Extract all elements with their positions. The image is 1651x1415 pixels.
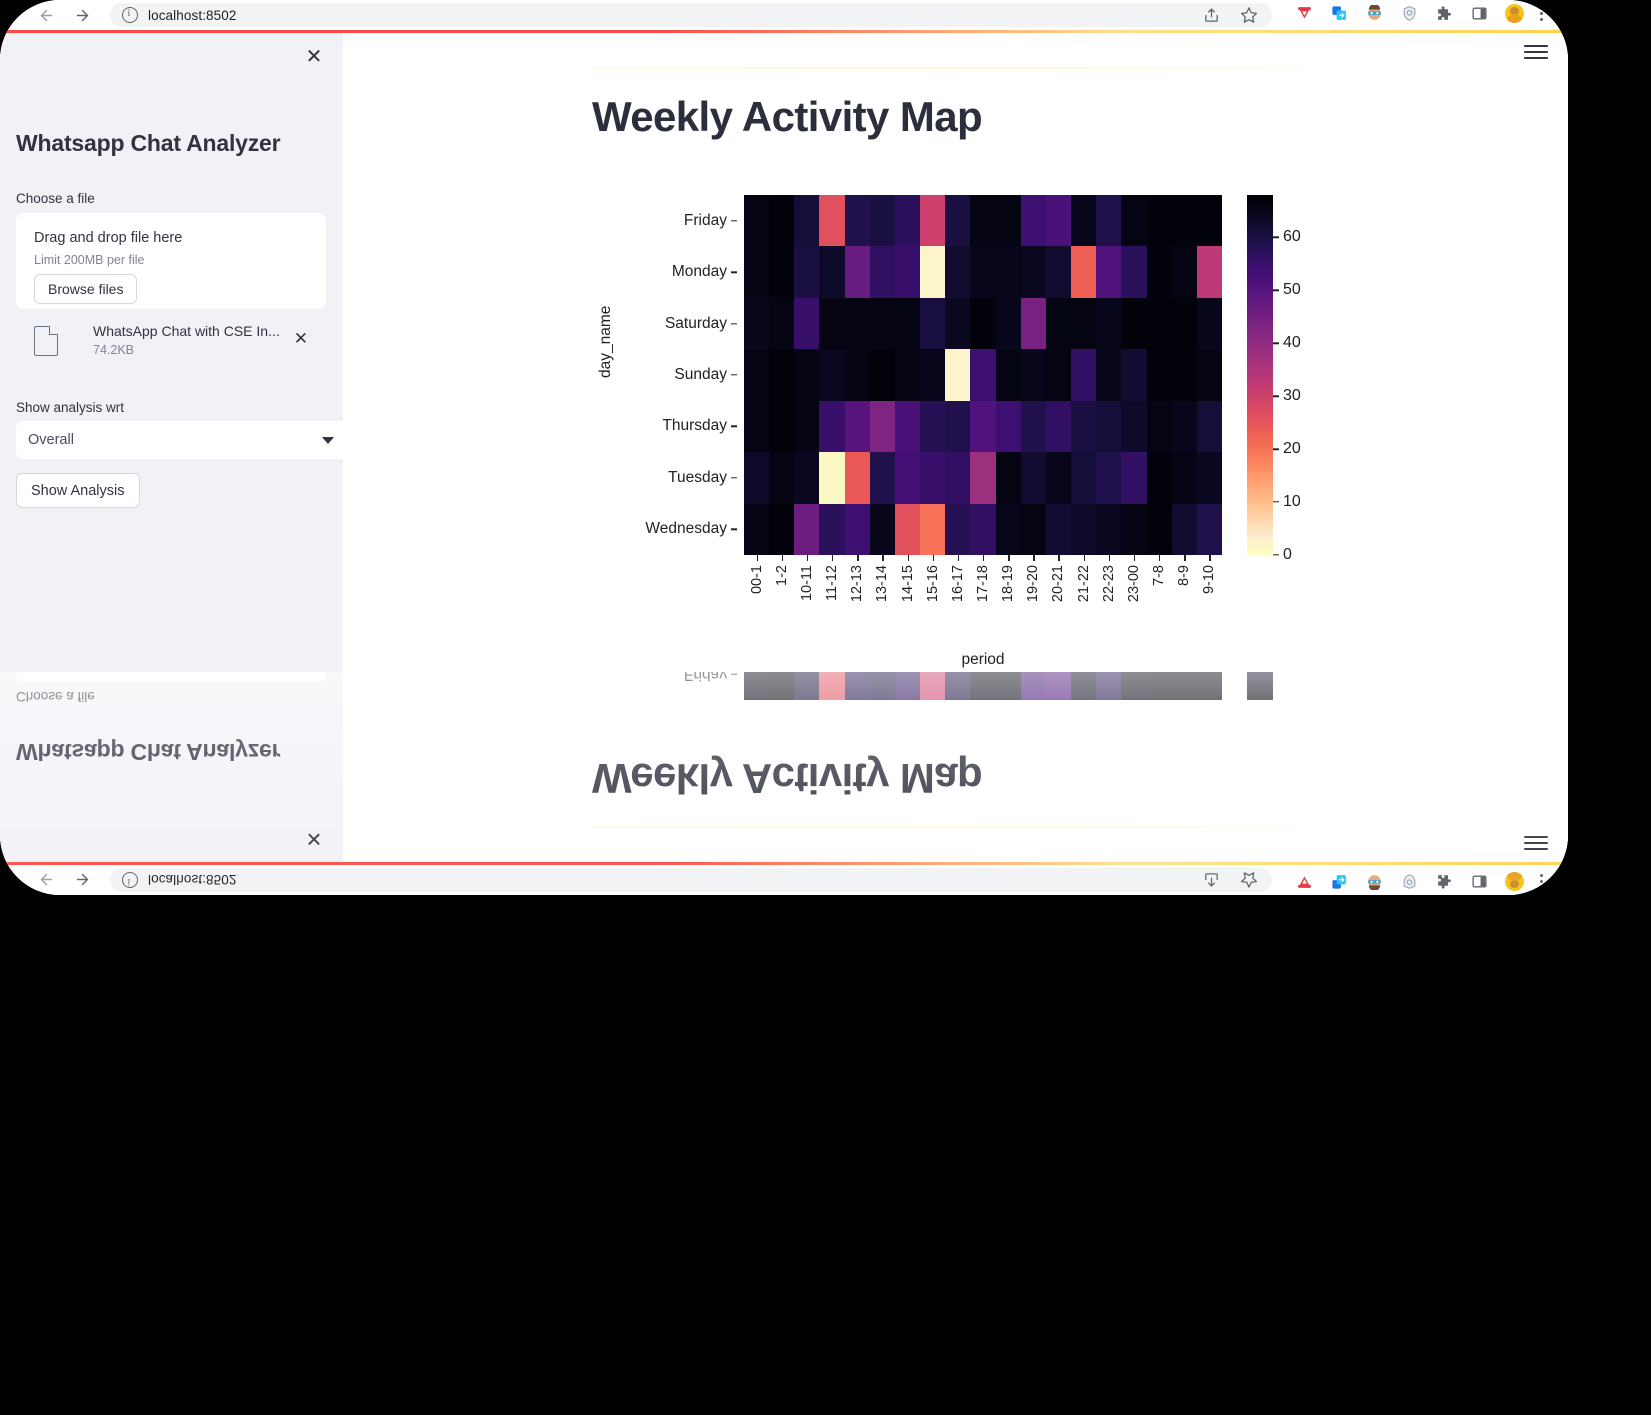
heatmap-cell — [1147, 504, 1172, 555]
heatmap-cell — [895, 349, 920, 400]
browser-toolbar: localhost:8502 — [0, 0, 1568, 30]
heatmap-cell — [1046, 349, 1071, 400]
heatmap-cell — [1172, 246, 1197, 297]
heatmap-cell — [870, 298, 895, 349]
heatmap-cell — [744, 452, 769, 503]
y-tick-label: Thursday — [662, 417, 727, 435]
heatmap-cell — [870, 452, 895, 503]
extension-icons — [1295, 872, 1543, 891]
heatmap-cell — [920, 504, 945, 555]
streamlit-app: ✕ Whatsapp Chat Analyzer Choose a file D… — [0, 672, 1568, 862]
heatmap-cell — [845, 349, 870, 400]
x-tick-mark — [1058, 555, 1059, 561]
heatmap-cell — [744, 349, 769, 400]
heatmap-cell — [1071, 672, 1096, 700]
heatmap-cell — [996, 298, 1021, 349]
y-tick-label: Friday — [684, 672, 727, 683]
heatmap-cell — [970, 349, 995, 400]
heatmap-cell — [920, 672, 945, 700]
y-tick-mark — [731, 220, 737, 221]
star-icon[interactable] — [1239, 6, 1258, 25]
heatmap-cell — [819, 195, 844, 246]
heatmap-cell — [870, 401, 895, 452]
sidebar: ✕ Whatsapp Chat Analyzer Choose a file D… — [0, 672, 343, 862]
heatmap-cell — [1046, 195, 1071, 246]
extension-icon-red[interactable] — [1295, 4, 1314, 23]
colorbar-tick-label: 30 — [1283, 387, 1301, 405]
uploaded-file-size: 74.2KB — [93, 343, 134, 357]
colorbar-tick-label: 10 — [1283, 493, 1301, 511]
heatmap-cell — [845, 504, 870, 555]
heatmap-cell — [794, 672, 819, 700]
heatmap-cell — [769, 504, 794, 555]
back-arrow-icon[interactable] — [36, 870, 56, 890]
heatmap-cell — [769, 452, 794, 503]
hamburger-menu-icon[interactable] — [1524, 45, 1548, 59]
y-tick-mark — [731, 477, 737, 478]
heatmap-cell — [819, 401, 844, 452]
colorbar-tick-mark — [1273, 501, 1279, 502]
heatmap-cell — [1096, 504, 1121, 555]
puzzle-icon[interactable] — [1435, 872, 1454, 891]
heatmap-cell — [895, 195, 920, 246]
puzzle-icon[interactable] — [1435, 4, 1454, 23]
heatmap-cell — [1121, 672, 1146, 700]
heatmap-cell — [895, 672, 920, 700]
extension-icon-blue[interactable] — [1330, 872, 1349, 891]
sidepanel-icon[interactable] — [1470, 4, 1489, 23]
x-axis-ticks: 00-11-210-1111-1212-1313-1414-1515-1616-… — [744, 555, 1222, 635]
heatmap-cell — [1046, 452, 1071, 503]
heatmap-cell — [970, 452, 995, 503]
colorbar-tick-label: 60 — [1283, 228, 1301, 246]
x-tick-mark — [908, 555, 909, 561]
heatmap-cell — [996, 452, 1021, 503]
x-tick-mark — [807, 555, 808, 561]
colorbar — [1247, 195, 1273, 555]
colorbar — [1247, 672, 1273, 700]
screenshot-stage: localhost:8502 — [0, 0, 1651, 1415]
heatmap-cell — [1121, 349, 1146, 400]
heatmap-cell — [945, 401, 970, 452]
heatmap-cell — [1096, 246, 1121, 297]
heatmap-cell — [1147, 298, 1172, 349]
heatmap-cell — [1147, 349, 1172, 400]
shield-icon[interactable] — [1400, 872, 1419, 891]
heatmap-cell — [970, 195, 995, 246]
heatmap-cell — [1172, 672, 1197, 700]
page-title: Weekly Activity Map — [592, 754, 982, 802]
heatmap-cell — [744, 504, 769, 555]
heatmap-cell — [1147, 195, 1172, 246]
uploaded-file-name: WhatsApp Chat with CSE In... — [93, 323, 280, 339]
heatmap-cell — [895, 298, 920, 349]
profile-avatar[interactable] — [1505, 4, 1524, 23]
heatmap-cell — [1021, 401, 1046, 452]
x-tick-mark — [1008, 555, 1009, 561]
back-arrow-icon[interactable] — [36, 5, 56, 25]
heatmap-cell — [794, 298, 819, 349]
x-tick-label: 22-23 — [1101, 565, 1117, 602]
x-tick-label: 23-00 — [1126, 565, 1142, 602]
app-title: Whatsapp Chat Analyzer — [16, 130, 280, 157]
x-tick-mark — [782, 555, 783, 561]
heatmap-cell — [1121, 401, 1146, 452]
extension-icon-blue[interactable] — [1330, 4, 1349, 23]
heatmap-cell — [870, 504, 895, 555]
forward-arrow-icon[interactable] — [72, 5, 92, 25]
x-tick-label: 13-14 — [874, 565, 890, 602]
y-tick-mark — [731, 374, 737, 375]
heatmap-cell — [845, 195, 870, 246]
heatmap-cell — [1197, 401, 1222, 452]
y-tick-label: Sunday — [674, 366, 727, 384]
x-tick-mark — [1109, 555, 1110, 561]
heatmap-cell — [1021, 246, 1046, 297]
heatmap-cell — [1121, 452, 1146, 503]
colorbar-tick-mark — [1273, 343, 1279, 344]
heatmap-cell — [819, 452, 844, 503]
heatmap-cell — [1197, 672, 1222, 700]
dropzone-title: Drag and drop file here — [34, 230, 182, 246]
file-dropzone[interactable]: Drag and drop file here Limit 200MB per … — [16, 672, 326, 682]
heatmap-cell — [1046, 504, 1071, 555]
heatmap-cell — [996, 349, 1021, 400]
heatmap-cell — [1197, 504, 1222, 555]
y-tick-mark — [731, 426, 737, 427]
x-tick-mark — [1033, 555, 1034, 561]
x-tick-label: 16-17 — [950, 565, 966, 602]
heatmap-cell — [895, 246, 920, 297]
y-tick-label: Friday — [684, 212, 727, 230]
address-bar-url: localhost:8502 — [148, 873, 236, 888]
heatmap-cell — [845, 298, 870, 349]
heatmap-figure: day_name FridayMondaySaturdaySundayThurs… — [592, 173, 1312, 693]
heatmap-cell — [1046, 246, 1071, 297]
heatmap-cell — [819, 298, 844, 349]
heatmap-cell — [1121, 298, 1146, 349]
hamburger-menu-icon[interactable] — [1524, 836, 1548, 850]
heatmap-cell — [1071, 195, 1096, 246]
heatmap-cell — [1172, 195, 1197, 246]
heatmap-cell — [1121, 504, 1146, 555]
page-title: Weekly Activity Map — [592, 93, 982, 141]
main-content: Weekly Activity Map day_name FridayMonda… — [343, 672, 1568, 862]
share-icon[interactable] — [1202, 871, 1221, 890]
chevron-down-icon — [322, 437, 334, 444]
dropzone-limit: Limit 200MB per file — [34, 253, 144, 267]
heatmap-grid — [744, 195, 1222, 555]
x-tick-mark — [757, 555, 758, 561]
heatmap-cell — [1147, 672, 1172, 700]
heatmap-cell — [794, 452, 819, 503]
heatmap-cell — [996, 195, 1021, 246]
y-axis-ticks: FridayMondaySaturdaySundayThursdayTuesda… — [612, 195, 737, 555]
heatmap-cell — [895, 452, 920, 503]
x-tick-label: 8-9 — [1176, 565, 1192, 586]
heatmap-cell — [769, 349, 794, 400]
address-bar[interactable]: localhost:8502 — [110, 3, 1272, 27]
heatmap-cell — [945, 195, 970, 246]
colorbar-tick-mark — [1273, 237, 1279, 238]
heatmap-cell — [1197, 246, 1222, 297]
heatmap-cell — [870, 195, 895, 246]
heatmap-cell — [1096, 672, 1121, 700]
x-tick-mark — [1159, 555, 1160, 561]
share-icon[interactable] — [1202, 6, 1221, 25]
reflection-content: localhost:8502 — [0, 672, 1568, 895]
x-tick-mark — [933, 555, 934, 561]
heatmap-cell — [1021, 298, 1046, 349]
profile-avatar[interactable] — [1505, 872, 1524, 891]
colorbar-tick-label: 20 — [1283, 440, 1301, 458]
y-tick-mark — [731, 323, 737, 324]
heatmap-cell — [1121, 246, 1146, 297]
heatmap-cell — [1071, 246, 1096, 297]
heatmap-cell — [794, 349, 819, 400]
show-analysis-button[interactable]: Show Analysis — [16, 473, 140, 508]
x-tick-label: 1-2 — [774, 565, 790, 586]
heatmap-cell — [1046, 401, 1071, 452]
heatmap-cell — [1197, 195, 1222, 246]
x-tick-label: 18-19 — [1000, 565, 1016, 602]
colorbar-tick-mark — [1273, 448, 1279, 449]
heatmap-cell — [769, 195, 794, 246]
sidebar-close-icon[interactable]: ✕ — [301, 43, 327, 69]
heatmap-cell — [845, 672, 870, 700]
extension-icon-face[interactable] — [1365, 872, 1384, 891]
x-axis-label: period — [744, 651, 1222, 669]
heatmap-cell — [1071, 504, 1096, 555]
heatmap-cell — [744, 298, 769, 349]
heatmap-cell — [945, 246, 970, 297]
heatmap-cell — [744, 401, 769, 452]
x-tick-mark — [983, 555, 984, 561]
heatmap-cell — [970, 401, 995, 452]
heatmap-cell — [870, 246, 895, 297]
heatmap-cell — [895, 401, 920, 452]
heatmap-cell — [1021, 504, 1046, 555]
heatmap-cell — [996, 504, 1021, 555]
y-tick-mark — [731, 529, 737, 530]
browse-files-button[interactable]: Browse files — [34, 274, 137, 304]
colorbar-ticks: 0102030405060 — [1273, 195, 1353, 555]
heatmap-cell — [845, 452, 870, 503]
app-title: Whatsapp Chat Analyzer — [16, 738, 280, 765]
heatmap-cell — [1071, 298, 1096, 349]
x-tick-mark — [1084, 555, 1085, 561]
heatmap-cell — [1021, 672, 1046, 700]
heatmap-cell — [819, 246, 844, 297]
star-icon[interactable] — [1239, 871, 1258, 890]
x-tick-mark — [1134, 555, 1135, 561]
heatmap-cell — [1071, 349, 1096, 400]
heatmap-cell — [819, 349, 844, 400]
heatmap-cell — [996, 672, 1021, 700]
heatmap-cell — [970, 298, 995, 349]
file-dropzone[interactable]: Drag and drop file here Limit 200MB per … — [16, 213, 326, 309]
heatmap-cell — [794, 401, 819, 452]
colorbar-ticks: 0102030405060 — [1273, 672, 1353, 700]
heatmap-cell — [794, 195, 819, 246]
heatmap-cell — [845, 401, 870, 452]
forward-arrow-icon[interactable] — [72, 870, 92, 890]
heatmap-cell — [1046, 298, 1071, 349]
x-tick-label: 10-11 — [799, 565, 815, 601]
heatmap-cell — [920, 349, 945, 400]
heatmap-cell — [1096, 195, 1121, 246]
y-tick-label: Saturday — [665, 315, 727, 333]
heatmap-cell — [1021, 349, 1046, 400]
x-tick-label: 20-21 — [1050, 565, 1066, 602]
choose-file-label: Choose a file — [16, 689, 95, 704]
heatmap-cell — [1096, 349, 1121, 400]
heatmap-cell — [1121, 195, 1146, 246]
heatmap-cell — [1147, 401, 1172, 452]
heatmap-cell — [1172, 349, 1197, 400]
x-tick-mark — [1184, 555, 1185, 561]
heatmap-cell — [794, 246, 819, 297]
heatmap-cell — [1021, 452, 1046, 503]
heatmap-cell — [945, 298, 970, 349]
heatmap-cell — [1071, 401, 1096, 452]
x-tick-mark — [882, 555, 883, 561]
colorbar-tick-mark — [1273, 290, 1279, 291]
x-tick-mark — [958, 555, 959, 561]
heatmap-cell — [744, 246, 769, 297]
heatmap-cell — [769, 246, 794, 297]
colorbar-tick-label: 50 — [1283, 281, 1301, 299]
choose-file-label: Choose a file — [16, 191, 95, 206]
colorbar-tick-label: 40 — [1283, 334, 1301, 352]
heatmap-cell — [895, 504, 920, 555]
x-tick-mark — [857, 555, 858, 561]
y-tick-mark — [731, 674, 737, 675]
heatmap-cell — [1096, 452, 1121, 503]
x-tick-mark — [832, 555, 833, 561]
heatmap-cell — [744, 195, 769, 246]
heatmap-cell — [1046, 672, 1071, 700]
heatmap-cell — [769, 298, 794, 349]
heatmap-cell — [1197, 452, 1222, 503]
site-info-icon[interactable] — [122, 872, 138, 888]
heatmap-cell — [945, 504, 970, 555]
heatmap-cell — [920, 401, 945, 452]
heatmap-cell — [1197, 298, 1222, 349]
heatmap-cell — [945, 349, 970, 400]
heatmap-cell — [1172, 504, 1197, 555]
heatmap-cell — [996, 246, 1021, 297]
x-tick-label: 19-20 — [1025, 565, 1041, 602]
uploaded-file-item: WhatsApp Chat with CSE In... 74.2KB ✕ — [16, 321, 326, 361]
heatmap-cell — [1096, 401, 1121, 452]
x-tick-label: 00-1 — [749, 565, 765, 594]
y-axis-ticks: FridayMondaySaturdaySundayThursdayTuesda… — [612, 672, 737, 700]
heatmap-cell — [769, 401, 794, 452]
x-tick-mark — [1209, 555, 1210, 561]
address-bar-url: localhost:8502 — [148, 8, 236, 23]
document-icon — [34, 326, 58, 356]
analysis-select-value: Overall — [28, 432, 74, 448]
analysis-select[interactable]: Overall — [16, 421, 350, 459]
heatmap-cell — [1021, 195, 1046, 246]
remove-file-icon[interactable]: ✕ — [294, 329, 308, 349]
heatmap-cell — [920, 452, 945, 503]
omnibox-actions — [1202, 868, 1272, 892]
heatmap-cell — [920, 246, 945, 297]
heatmap-cell — [819, 504, 844, 555]
section-divider — [592, 826, 1309, 828]
y-tick-label: Tuesday — [668, 469, 727, 487]
x-tick-label: 14-15 — [900, 565, 916, 602]
heatmap-cell — [1096, 298, 1121, 349]
heatmap-cell — [945, 452, 970, 503]
heatmap-cell — [794, 504, 819, 555]
heatmap-cell — [1147, 246, 1172, 297]
heatmap-cell — [970, 246, 995, 297]
heatmap-cell — [1071, 452, 1096, 503]
heatmap-cell — [920, 195, 945, 246]
browser-toolbar: localhost:8502 — [0, 865, 1568, 895]
heatmap-cell — [870, 672, 895, 700]
x-tick-label: 15-16 — [925, 565, 941, 602]
colorbar-tick-mark — [1273, 554, 1279, 555]
x-tick-label: 21-22 — [1076, 565, 1092, 602]
x-tick-label: 7-8 — [1151, 565, 1167, 586]
shield-icon[interactable] — [1400, 4, 1419, 23]
sidebar-close-icon[interactable]: ✕ — [301, 826, 327, 852]
heatmap-cell — [970, 672, 995, 700]
heatmap-cell — [845, 246, 870, 297]
analysis-wrt-label: Show analysis wrt — [16, 400, 124, 415]
sidepanel-icon[interactable] — [1470, 872, 1489, 891]
kebab-menu-icon[interactable] — [1540, 875, 1543, 889]
browser-window: localhost:8502 — [0, 0, 1568, 895]
heatmap-cell — [1172, 401, 1197, 452]
heatmap-cell — [819, 672, 844, 700]
address-bar[interactable]: localhost:8502 — [110, 868, 1272, 892]
window-reflection: localhost:8502 — [0, 672, 1568, 895]
y-tick-label: Monday — [672, 263, 727, 281]
heatmap-cell — [1172, 452, 1197, 503]
x-tick-label: 11-12 — [824, 565, 840, 601]
kebab-menu-icon[interactable] — [1540, 7, 1543, 21]
heatmap-cell — [1197, 349, 1222, 400]
heatmap-cell — [945, 672, 970, 700]
y-tick-label: Wednesday — [645, 520, 727, 538]
extension-icons — [1295, 4, 1543, 23]
heatmap-cell — [996, 401, 1021, 452]
heatmap-cell — [744, 672, 769, 700]
heatmap-cell — [1147, 452, 1172, 503]
colorbar-tick-mark — [1273, 395, 1279, 396]
x-tick-label: 12-13 — [849, 565, 865, 602]
heatmap-grid — [744, 672, 1222, 700]
extension-icon-face[interactable] — [1365, 4, 1384, 23]
heatmap-cell — [870, 349, 895, 400]
x-tick-label: 9-10 — [1201, 565, 1217, 594]
extension-icon-red[interactable] — [1295, 872, 1314, 891]
uploaded-file-meta: WhatsApp Chat with CSE In... 74.2KB — [93, 323, 280, 359]
y-tick-mark — [731, 271, 737, 272]
section-divider — [592, 67, 1309, 69]
heatmap-cell — [769, 672, 794, 700]
site-info-icon[interactable] — [122, 7, 138, 23]
heatmap-cell — [920, 298, 945, 349]
colorbar-tick-label: 0 — [1283, 546, 1292, 564]
heatmap-cell — [970, 504, 995, 555]
x-tick-label: 17-18 — [975, 565, 991, 602]
